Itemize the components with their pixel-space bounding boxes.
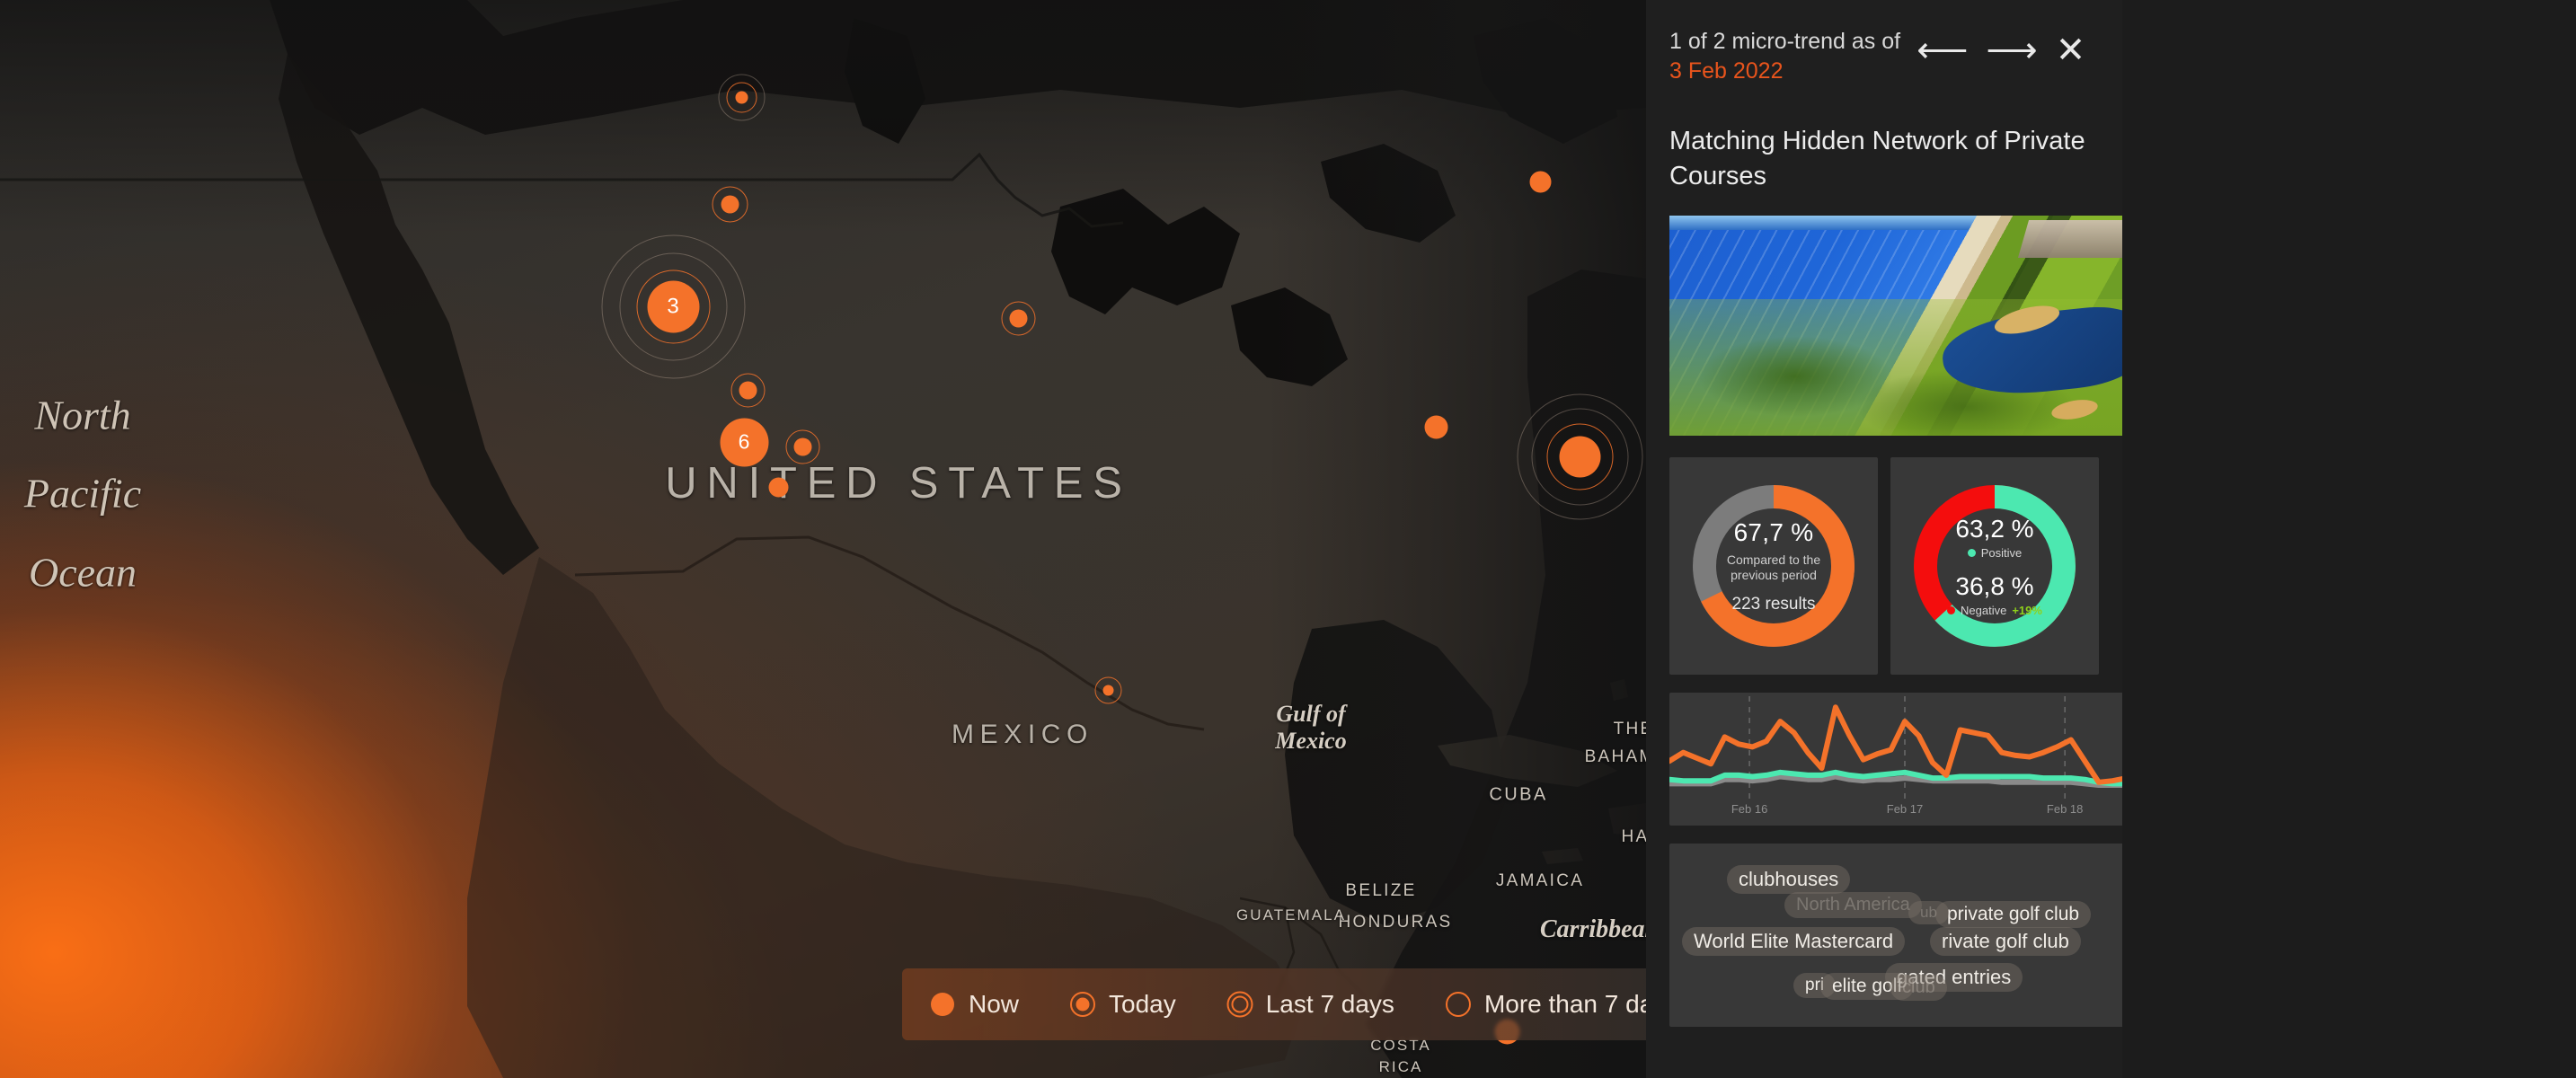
marker-dot[interactable] xyxy=(1424,415,1447,438)
marker-midwest[interactable] xyxy=(1018,318,1019,319)
close-icon[interactable]: ✕ xyxy=(2056,32,2086,68)
marker-dot[interactable] xyxy=(1529,171,1551,192)
hero-clubhouse xyxy=(2018,220,2122,258)
timeline-tick-label: Feb 18 xyxy=(2047,802,2083,816)
marker-cluster-west[interactable]: 3 xyxy=(673,306,674,307)
volume-donut-chart: 67,7 % Compared to the previous period 2… xyxy=(1688,481,1859,651)
sentiment-donut-center: 63,2 % Positive 36,8 % Negative +19% xyxy=(1937,508,2052,623)
empty-ring-icon xyxy=(1445,991,1472,1018)
keyword-cloud-card[interactable]: clubhousesNorth Americaprivate golf club… xyxy=(1669,844,2122,1027)
marker-cluster-socal[interactable]: 6 xyxy=(744,442,745,443)
marker-dot[interactable] xyxy=(739,381,757,399)
volume-caption: Compared to the previous period xyxy=(1727,552,1820,584)
positive-bullet-icon xyxy=(1968,549,1976,557)
panel-header: 1 of 2 micro-trend as of 3 Feb 2022 ⟵ ⟶ … xyxy=(1669,0,2099,86)
negative-percent: 36,8 % xyxy=(1947,572,2042,601)
sentiment-delta: +19% xyxy=(2012,604,2042,617)
donut-card-row: 67,7 % Compared to the previous period 2… xyxy=(1669,457,2099,675)
trend-date: 3 Feb 2022 xyxy=(1669,58,1784,84)
keyword-tag[interactable]: private golf club xyxy=(1935,901,2091,928)
volume-caption-line-1: Compared to the xyxy=(1727,552,1820,567)
volume-caption-line-2: previous period xyxy=(1731,568,1817,582)
marker-northeast-lake[interactable] xyxy=(1540,181,1541,182)
volume-donut-card[interactable]: 67,7 % Compared to the previous period 2… xyxy=(1669,457,1878,675)
positive-percent: 63,2 % xyxy=(1955,515,2033,543)
positive-label: Positive xyxy=(1981,546,2023,560)
negative-bullet-icon xyxy=(1947,606,1955,614)
marker-dot[interactable] xyxy=(768,477,788,497)
double-ring-icon xyxy=(1226,991,1253,1018)
keyword-tag[interactable]: World Elite Mastercard xyxy=(1682,927,1905,956)
marker-socal-east[interactable] xyxy=(802,446,803,447)
timeline-axis-ticks: Feb 16Feb 17Feb 18 xyxy=(1669,802,2122,818)
negative-label: Negative xyxy=(1961,604,2006,617)
sentiment-donut-chart: 63,2 % Positive 36,8 % Negative +19% xyxy=(1909,481,2080,651)
legend-item-label: Today xyxy=(1109,990,1176,1019)
micro-trend-detail-panel[interactable]: 1 of 2 micro-trend as of 3 Feb 2022 ⟵ ⟶ … xyxy=(1646,0,2122,1078)
legend-item-label: Last 7 days xyxy=(1266,990,1394,1019)
marker-socal-north[interactable] xyxy=(748,390,748,391)
timeline-tick-label: Feb 17 xyxy=(1887,802,1923,816)
trend-counter-text: 1 of 2 micro-trend as of xyxy=(1669,29,1900,54)
map-time-legend[interactable]: NowTodayLast 7 daysMore than 7 days ago xyxy=(902,968,1646,1040)
positive-legend: Positive xyxy=(1968,546,2023,560)
legend-item[interactable]: Last 7 days xyxy=(1226,990,1394,1019)
keyword-tag[interactable]: ub xyxy=(1908,901,1949,924)
legend-item-label: Now xyxy=(969,990,1019,1019)
marker-dot[interactable] xyxy=(1102,685,1113,695)
previous-arrow-icon[interactable]: ⟵ xyxy=(1917,32,1968,68)
volume-donut-center: 67,7 % Compared to the previous period 2… xyxy=(1716,508,1831,623)
dot-with-ring-icon xyxy=(1069,991,1096,1018)
marker-pnw-coast[interactable] xyxy=(730,204,730,205)
marker-dot[interactable] xyxy=(735,91,748,103)
marker-dot[interactable] xyxy=(721,195,739,213)
volume-percent: 67,7 % xyxy=(1734,518,1814,547)
negative-block: 36,8 % Negative +19% xyxy=(1947,572,2042,617)
trend-timeline-card[interactable]: Feb 16Feb 17Feb 18 xyxy=(1669,693,2122,826)
marker-dot[interactable]: 3 xyxy=(647,280,699,332)
legend-item[interactable]: More than 7 days ago xyxy=(1445,990,1646,1019)
volume-results-count: 223 results xyxy=(1732,595,1816,614)
keyword-tag[interactable]: clubhouses xyxy=(1727,865,1850,894)
trend-counter: 1 of 2 micro-trend as of 3 Feb 2022 xyxy=(1669,27,1900,86)
keyword-tag[interactable]: North America xyxy=(1784,892,1922,918)
legend-item[interactable]: Now xyxy=(929,990,1019,1019)
marker-dot[interactable] xyxy=(1009,309,1027,327)
marker-mexico-central[interactable] xyxy=(1108,690,1109,691)
marker-south-atlantic[interactable] xyxy=(1436,427,1437,428)
map-canvas[interactable]: NorthPacificOceanUNITED STATESMEXICOGulf… xyxy=(0,0,1646,1078)
panel-nav-controls[interactable]: ⟵ ⟶ ✕ xyxy=(1917,32,2085,68)
legend-item[interactable]: Today xyxy=(1069,990,1176,1019)
marker-dot[interactable]: 6 xyxy=(720,418,768,466)
next-arrow-icon[interactable]: ⟶ xyxy=(1986,32,2037,68)
filled-dot-icon xyxy=(929,991,956,1018)
marker-cluster-pacific-northwest[interactable] xyxy=(741,97,742,98)
timeline-tick-label: Feb 16 xyxy=(1731,802,1767,816)
legend-item-label: More than 7 days ago xyxy=(1484,990,1646,1019)
marker-cluster-northeast[interactable] xyxy=(1580,456,1580,457)
keyword-tag[interactable]: club xyxy=(1890,975,1947,1001)
trend-title: Matching Hidden Network of Private Cours… xyxy=(1669,124,2099,194)
map-landmasses xyxy=(0,0,1646,1078)
keyword-tag[interactable]: rivate golf club xyxy=(1930,927,2081,956)
sentiment-donut-card[interactable]: 63,2 % Positive 36,8 % Negative +19% xyxy=(1890,457,2099,675)
marker-dot[interactable] xyxy=(1559,436,1600,477)
negative-legend: Negative +19% xyxy=(1947,604,2042,617)
marker-socal-south[interactable] xyxy=(778,487,779,488)
trend-hero-image[interactable] xyxy=(1669,216,2122,436)
marker-dot[interactable] xyxy=(793,437,811,455)
